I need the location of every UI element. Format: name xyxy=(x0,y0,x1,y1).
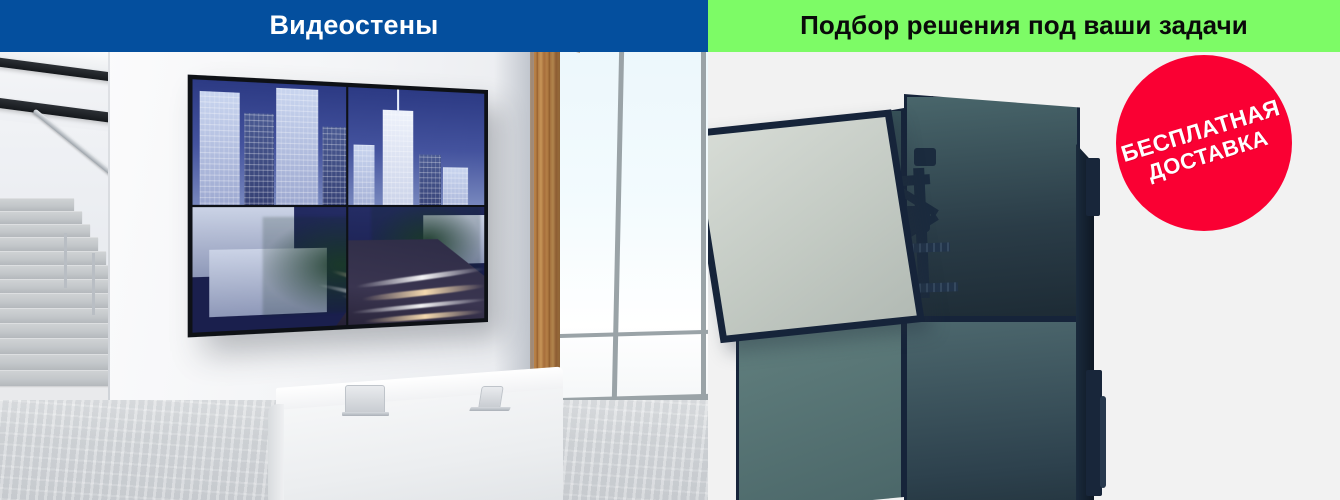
left-photo-pane[interactable] xyxy=(0,48,708,500)
desk-side-face xyxy=(268,404,284,500)
promo-banner-root: Видеостены Подбор решения под ваши задач… xyxy=(0,0,1340,500)
free-delivery-badge-text: БЕСПЛАТНАЯ ДОСТАВКА xyxy=(1118,95,1290,191)
video-wall-tile xyxy=(348,207,484,325)
office-lobby-scene xyxy=(0,48,708,500)
glass-curtain-wall xyxy=(556,48,708,452)
reception-desk xyxy=(268,388,563,500)
bracket-rail xyxy=(1100,396,1106,488)
handrail-post xyxy=(92,253,95,315)
window-mullion-vertical xyxy=(701,48,706,400)
wall-bracket-upper xyxy=(1086,158,1100,216)
handrail-post xyxy=(64,233,67,288)
video-wall-tile xyxy=(348,87,484,205)
free-delivery-badge[interactable]: БЕСПЛАТНАЯ ДОСТАВКА xyxy=(1116,55,1292,231)
video-wall-tile xyxy=(193,79,347,205)
banner-left[interactable]: Видеостены xyxy=(0,0,708,52)
panel-bezel xyxy=(708,109,925,343)
banner-right-title: Подбор решения под ваши задачи xyxy=(800,12,1248,38)
banner-row: Видеостены Подбор решения под ваши задач… xyxy=(0,0,1340,52)
banner-right[interactable]: Подбор решения под ваши задачи xyxy=(708,0,1340,52)
video-wall-panel-pulled-out[interactable] xyxy=(708,109,925,343)
video-wall-panel-bottom-left xyxy=(736,313,904,500)
banner-left-title: Видеостены xyxy=(269,12,438,39)
video-wall-panel-bottom-right xyxy=(904,319,1080,500)
mount-arm-elbow xyxy=(914,148,936,166)
panel-screen xyxy=(708,117,917,336)
video-wall-frame xyxy=(188,75,488,338)
video-wall-left-photo[interactable] xyxy=(188,75,488,338)
video-wall-tile xyxy=(193,207,347,333)
